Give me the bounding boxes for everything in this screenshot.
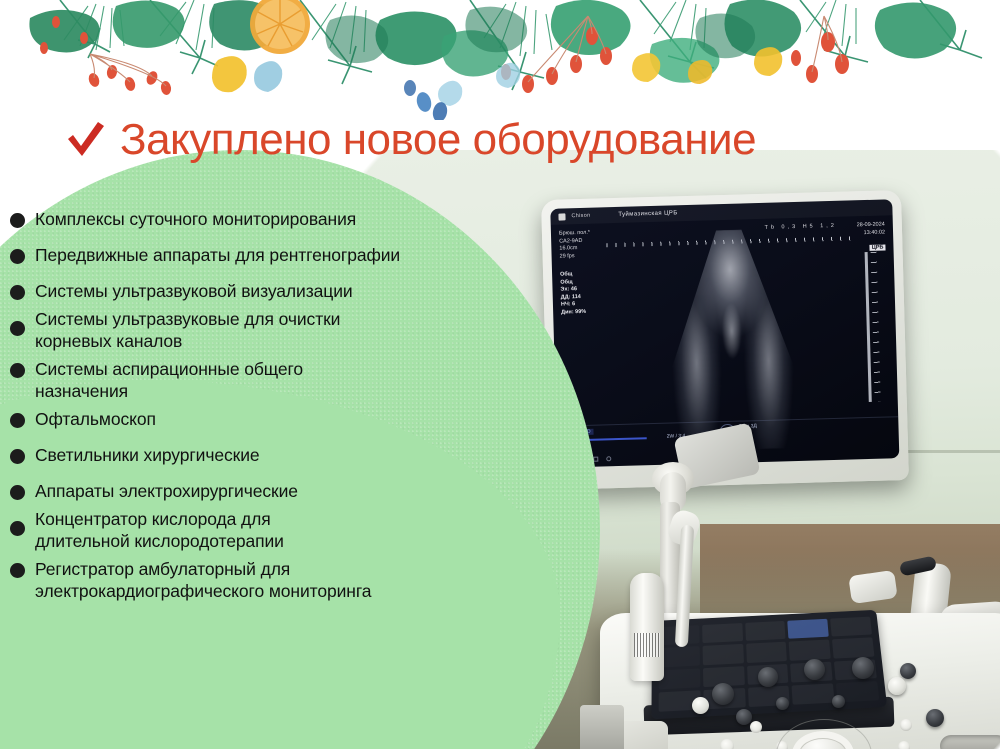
console-knob[interactable] bbox=[736, 709, 752, 725]
bullet-icon bbox=[10, 563, 25, 578]
ts-button[interactable] bbox=[659, 646, 700, 667]
ultrasound-control-panel bbox=[600, 555, 1000, 749]
list-item-label: Регистратор амбулаторный для электрокард… bbox=[35, 558, 371, 602]
console-knob[interactable] bbox=[832, 695, 845, 708]
list-item: Системы ультразвуковой визуализации bbox=[10, 280, 510, 302]
console-button[interactable] bbox=[898, 741, 910, 749]
ts-button[interactable] bbox=[702, 644, 743, 665]
new-year-garland bbox=[0, 0, 1000, 120]
gel-bottle bbox=[630, 573, 664, 681]
status-circle2-icon bbox=[606, 456, 611, 461]
console-knob[interactable] bbox=[776, 697, 789, 710]
ts-button[interactable] bbox=[659, 668, 700, 689]
console-light-knob[interactable] bbox=[888, 677, 906, 695]
gel-bottle-label bbox=[634, 633, 660, 657]
list-item-label: Офтальмоскоп bbox=[35, 408, 156, 430]
list-item: Светильники хирургические bbox=[10, 444, 510, 466]
console-knob[interactable] bbox=[900, 663, 916, 679]
equipment-list: Комплексы суточного мониторирования Пере… bbox=[10, 208, 510, 608]
list-item: Системы ультразвуковые для очистки корне… bbox=[10, 308, 510, 352]
ts-button[interactable] bbox=[745, 621, 786, 641]
bullet-icon bbox=[10, 521, 25, 536]
poster-root: Chison Туймазинская ЦРБ Брюш. пол.* CA2-… bbox=[0, 0, 1000, 749]
ultrasound-depth-ticks bbox=[871, 252, 881, 402]
ultrasound-datetime: 28-09-2024 13:40:02 bbox=[857, 221, 886, 237]
bullet-icon bbox=[10, 449, 25, 464]
console-button[interactable] bbox=[750, 721, 762, 733]
cart-side-panel bbox=[580, 705, 624, 749]
probe-center bbox=[848, 570, 897, 604]
page-title: Закуплено новое оборудование bbox=[120, 118, 756, 162]
list-item: Концентратор кислорода для длительной ки… bbox=[10, 508, 510, 552]
bullet-icon bbox=[10, 413, 25, 428]
list-item: Системы аспирационные общего назначения bbox=[10, 358, 510, 402]
list-item-label: Комплексы суточного мониторирования bbox=[35, 208, 356, 230]
bullet-icon bbox=[10, 485, 25, 500]
touchscreen-button-grid[interactable] bbox=[659, 617, 880, 712]
list-item: Офтальмоскоп bbox=[10, 408, 510, 430]
ts-button[interactable] bbox=[832, 638, 874, 659]
ts-button[interactable] bbox=[792, 683, 835, 705]
list-item-label: Светильники хирургические bbox=[35, 444, 260, 466]
bullet-icon bbox=[10, 321, 25, 336]
ts-button[interactable] bbox=[746, 642, 788, 663]
ts-button[interactable] bbox=[789, 640, 831, 661]
console-knob[interactable] bbox=[852, 657, 874, 679]
garland-svg bbox=[0, 0, 1000, 120]
list-item: Передвижные аппараты для рентгенографии bbox=[10, 244, 510, 266]
list-item-label: Системы аспирационные общего назначения bbox=[35, 358, 303, 402]
console-knob[interactable] bbox=[712, 683, 734, 705]
console-light-knob[interactable] bbox=[692, 697, 709, 714]
monitor-hospital-label: Туймазинская ЦРБ bbox=[618, 210, 677, 218]
check-mark-icon bbox=[66, 121, 106, 159]
chison-logo-icon bbox=[558, 213, 565, 220]
bullet-icon bbox=[10, 213, 25, 228]
bullet-icon bbox=[10, 249, 25, 264]
list-item-label: Системы ультразвуковой визуализации bbox=[35, 280, 353, 302]
list-item: Регистратор амбулаторный для электрокард… bbox=[10, 558, 510, 602]
monitor-brand-label: Chison bbox=[571, 213, 590, 220]
ultrasound-badge: ЦРБ bbox=[870, 244, 886, 250]
console-knob[interactable] bbox=[804, 659, 825, 680]
ts-button[interactable] bbox=[830, 617, 872, 637]
console-handle[interactable] bbox=[940, 735, 1000, 749]
list-item: Комплексы суточного мониторирования bbox=[10, 208, 510, 230]
ultrasound-measurements: Общ Общ Эх: 46 ДД: 114 НЧ: 6 Дин: 99% bbox=[560, 271, 586, 317]
ultrasound-gain-readout: Tb 0,3 H5 1,2 bbox=[764, 223, 836, 231]
list-item-label: Системы ультразвуковые для очистки корне… bbox=[35, 308, 340, 352]
console-button[interactable] bbox=[720, 739, 734, 749]
list-item-label: Аппараты электрохирургические bbox=[35, 480, 298, 502]
ts-button-active[interactable] bbox=[788, 619, 829, 639]
list-item-label: Концентратор кислорода для длительной ки… bbox=[35, 508, 284, 552]
list-item: Аппараты электрохирургические bbox=[10, 480, 510, 502]
poster-title-row: Закуплено новое оборудование bbox=[66, 118, 756, 162]
ultrasound-params: Брюш. пол.* CA2-9AD 16.0cm 29 fps bbox=[559, 230, 591, 261]
ts-button[interactable] bbox=[702, 623, 743, 643]
console-knob[interactable] bbox=[926, 709, 944, 727]
ultrasound-time: 13:40:02 bbox=[857, 229, 885, 237]
console-knob[interactable] bbox=[758, 667, 778, 687]
bullet-icon bbox=[10, 285, 25, 300]
list-item-label: Передвижные аппараты для рентгенографии bbox=[35, 244, 400, 266]
console-button[interactable] bbox=[900, 719, 912, 731]
bullet-icon bbox=[10, 363, 25, 378]
